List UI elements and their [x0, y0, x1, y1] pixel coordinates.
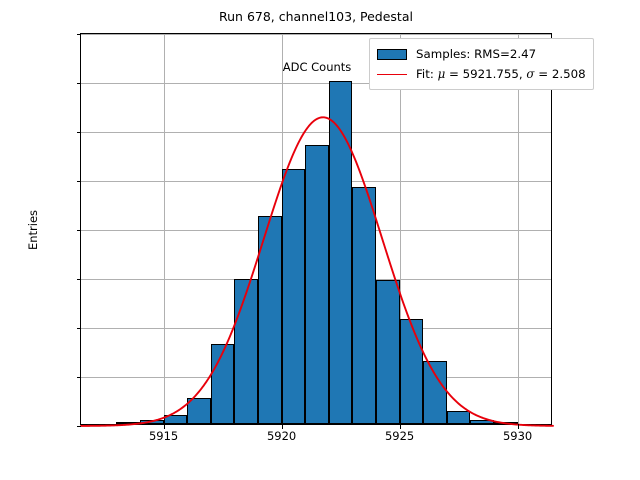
x-tick-mark: [518, 424, 519, 429]
legend-item-samples: Samples: RMS=2.47: [377, 44, 586, 64]
figure-canvas: Run 678, channel103, Pedestal 0250500750…: [0, 0, 640, 480]
y-tick-mark: [77, 279, 82, 280]
page-title: Run 678, channel103, Pedestal: [80, 8, 552, 26]
x-tick-mark: [164, 424, 165, 429]
legend-label-samples: Samples: RMS=2.47: [416, 47, 536, 61]
y-axis-label: Entries: [26, 210, 40, 250]
y-tick-mark: [77, 426, 82, 427]
legend-fit-prefix: Fit:: [416, 67, 438, 81]
y-tick-mark: [77, 328, 82, 329]
y-tick-mark: [77, 34, 82, 35]
legend-fit-sigma-value: = 2.508: [534, 67, 585, 81]
legend-swatch-fit: [377, 74, 407, 75]
legend-fit-mu-value: = 5921.755,: [445, 67, 526, 81]
legend-swatch-samples: [377, 49, 407, 60]
y-tick-mark: [77, 181, 82, 182]
x-tick-label: 5930: [458, 430, 578, 442]
x-tick-label: 5915: [104, 430, 224, 442]
plot-area: 025050075010001250150017502000 591559205…: [80, 33, 552, 425]
x-tick-mark: [282, 424, 283, 429]
x-tick-label: 5920: [222, 430, 342, 442]
legend-label-fit: Fit: μ = 5921.755, σ = 2.508: [416, 67, 586, 81]
y-tick-mark: [77, 230, 82, 231]
legend[interactable]: Samples: RMS=2.47 Fit: μ = 5921.755, σ =…: [369, 38, 594, 90]
x-tick-label: 5925: [340, 430, 460, 442]
x-tick-mark: [400, 424, 401, 429]
gaussian-fit-curve: [81, 34, 553, 426]
legend-item-fit: Fit: μ = 5921.755, σ = 2.508: [377, 64, 586, 84]
fit-path: [81, 117, 553, 426]
y-tick-mark: [77, 83, 82, 84]
y-tick-mark: [77, 377, 82, 378]
y-tick-mark: [77, 132, 82, 133]
x-axis-label: ADC Counts: [283, 60, 352, 74]
